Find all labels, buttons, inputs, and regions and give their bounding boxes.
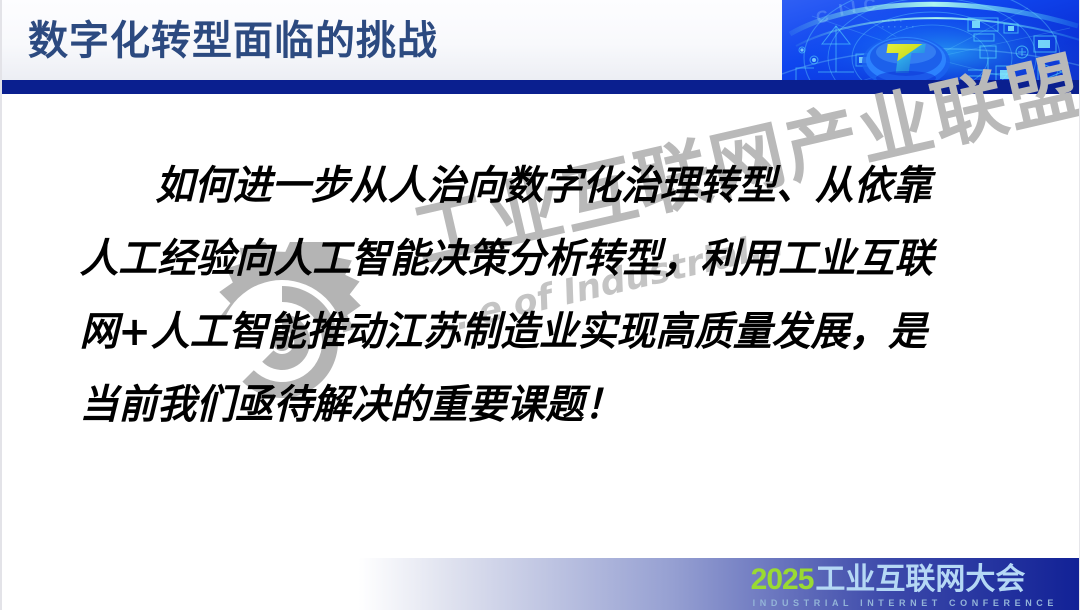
- body-line-4-text: 当前我们亟待解决的重要课题！: [80, 382, 623, 428]
- conference-logo-main: 2025 工业互联网大会: [751, 564, 1026, 596]
- slide-canvas: 数字化转型面临的挑战: [0, 0, 1080, 610]
- conference-name-cn: 工业互联网大会: [815, 564, 1025, 596]
- body-line-3-text: 网+人工智能推动江苏制造业实现高质量发展，是: [80, 309, 927, 355]
- conference-logo: 2025 工业互联网大会 INDUSTRIAL INTERNET CONFERE…: [751, 564, 1058, 608]
- tech-circuit-dial-graphic: C I I C: [782, 0, 1080, 80]
- conference-year: 2025: [751, 564, 814, 596]
- body-line-2-text: 人工经验向人工智能决策分析转型，利用工业互联: [80, 236, 934, 282]
- body-line-1-text: 如何进一步从人治向数字化治理转型、从依靠: [155, 163, 931, 209]
- body-paragraph: 如何进一步从人治向数字化治理转型、从依靠 人工经验向人工智能决策分析转型，利用工…: [2, 150, 1050, 442]
- footer-bar: 2025 工业互联网大会 INDUSTRIAL INTERNET CONFERE…: [2, 558, 1080, 610]
- body-line-4: 当前我们亟待解决的重要课题！: [80, 369, 980, 442]
- header-accent-bar: [2, 80, 1080, 94]
- conference-name-en: INDUSTRIAL INTERNET CONFERENCE: [753, 598, 1058, 608]
- svg-text:C: C: [863, 0, 877, 15]
- body-line-1: 如何进一步从人治向数字化治理转型、从依靠: [80, 150, 980, 223]
- page-title: 数字化转型面临的挑战: [28, 8, 438, 66]
- body-line-3: 网+人工智能推动江苏制造业实现高质量发展，是: [80, 296, 980, 369]
- slide-body: 如何进一步从人治向数字化治理转型、从依靠 人工经验向人工智能决策分析转型，利用工…: [2, 150, 1080, 470]
- slide-header: 数字化转型面临的挑战: [2, 0, 1080, 80]
- body-line-2: 人工经验向人工智能决策分析转型，利用工业互联: [80, 223, 980, 296]
